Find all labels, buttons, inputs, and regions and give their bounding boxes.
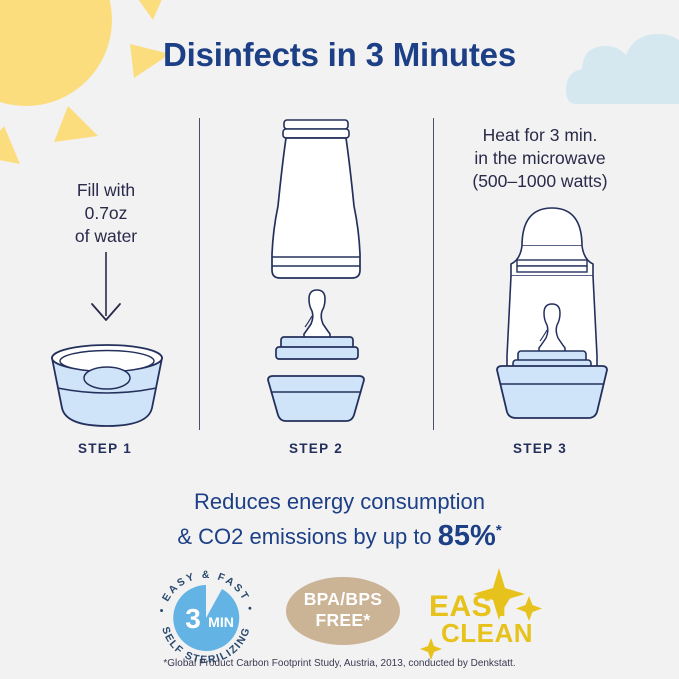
step2-base-illustration [266, 375, 366, 423]
eco-claim: Reduces energy consumption & CO2 emissio… [0, 487, 679, 551]
step1-caption-line2: 0.7oz [6, 202, 206, 225]
bpa-line1: BPA/BPS [285, 589, 401, 610]
3min-self-sterilizing-badge: • EASY & FAST • SELF STERILIZING 3 MIN [152, 566, 260, 662]
bpa-line2: FREE* [285, 610, 401, 631]
step2-teat-collar-illustration [275, 288, 359, 360]
down-arrow-icon [86, 252, 126, 324]
step1-caption: Fill with 0.7oz of water [6, 179, 206, 248]
easy-clean-line1: EASY [429, 592, 533, 621]
easy-clean-badge: EASY CLEAN [425, 566, 545, 658]
eco-claim-prefix: & CO2 emissions by up to [177, 524, 437, 549]
step3-caption-line1: Heat for 3 min. [440, 124, 640, 147]
step-label-1: STEP 1 [5, 441, 205, 456]
eco-claim-percent: 85% [438, 520, 496, 552]
step2-bottle-illustration [258, 118, 374, 283]
page-title: Disinfects in 3 Minutes [0, 36, 679, 74]
step-label-3: STEP 3 [440, 441, 640, 456]
step1-caption-line1: Fill with [6, 179, 206, 202]
step3-assembled-illustration [489, 198, 615, 420]
column-divider-2 [433, 118, 434, 430]
step1-caption-line3: of water [6, 225, 206, 248]
sun-icon [0, 0, 178, 174]
step-label-2: STEP 2 [216, 441, 416, 456]
eco-claim-line1: Reduces energy consumption [0, 487, 679, 516]
svg-text:MIN: MIN [208, 614, 234, 630]
bpa-bps-free-badge: BPA/BPS FREE* [285, 576, 401, 646]
svg-text:3: 3 [185, 603, 201, 634]
eco-claim-asterisk: * [496, 522, 502, 539]
bowl-illustration [48, 336, 166, 432]
eco-claim-line2: & CO2 emissions by up to 85%* [0, 516, 679, 551]
column-divider-1 [199, 118, 200, 430]
step3-caption: Heat for 3 min. in the microwave (500–10… [440, 124, 640, 193]
easy-clean-line2: CLEAN [441, 621, 533, 646]
step3-caption-line2: in the microwave [440, 147, 640, 170]
footnote: *Global Product Carbon Footprint Study, … [0, 658, 679, 669]
infographic-page: Disinfects in 3 Minutes Fill with 0.7oz … [0, 0, 679, 679]
easy-clean-text: EASY CLEAN [429, 592, 533, 647]
step3-caption-line3: (500–1000 watts) [440, 170, 640, 193]
bpa-bps-free-text: BPA/BPS FREE* [285, 589, 401, 631]
